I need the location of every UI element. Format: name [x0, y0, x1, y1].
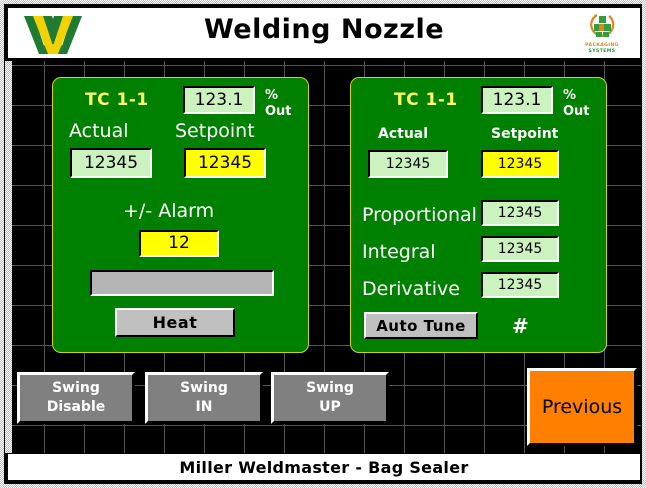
- heat-output-bargraph: [90, 270, 274, 296]
- application-window: Welding Nozzle PACKAGING SYSTEMS TC: [0, 0, 646, 488]
- swing-in-line-1: Swing: [180, 379, 228, 398]
- packaging-systems-logo-icon: PACKAGING SYSTEMS: [574, 10, 630, 58]
- percent-out-value-left[interactable]: 123.1: [183, 86, 255, 114]
- hash-symbol: #: [512, 314, 529, 338]
- integral-label: Integral: [362, 241, 436, 263]
- panel-left-title: TC 1-1: [85, 90, 149, 110]
- swing-disable-button[interactable]: Swing Disable: [17, 372, 135, 424]
- status-bar: Miller Weldmaster - Bag Sealer: [7, 453, 641, 481]
- derivative-label: Derivative: [362, 278, 460, 300]
- alarm-label-left: +/- Alarm: [123, 200, 214, 222]
- hmi-screen: Welding Nozzle PACKAGING SYSTEMS TC: [4, 4, 642, 484]
- previous-button[interactable]: Previous: [527, 368, 637, 446]
- swing-disable-line-1: Swing: [52, 379, 100, 398]
- actual-label-left: Actual: [69, 120, 129, 142]
- alarm-value-left[interactable]: 12: [139, 230, 219, 257]
- swing-up-line-1: Swing: [306, 379, 354, 398]
- percent-out-value-right[interactable]: 123.1: [481, 86, 553, 114]
- setpoint-value-left[interactable]: 12345: [184, 148, 266, 178]
- out-label-right: Out: [563, 104, 590, 119]
- swing-up-line-2: UP: [319, 398, 341, 417]
- setpoint-label-left: Setpoint: [175, 120, 255, 142]
- out-label-left: Out: [265, 104, 292, 119]
- page-title: Welding Nozzle: [8, 14, 640, 45]
- heat-button[interactable]: Heat: [115, 308, 235, 337]
- logo-line-2: SYSTEMS: [574, 49, 630, 55]
- tc-control-panel-right: TC 1-1 123.1 % Out Actual Setpoint 12345…: [350, 77, 607, 353]
- swing-up-button[interactable]: Swing UP: [271, 372, 389, 424]
- actual-value-left: 12345: [70, 148, 152, 178]
- panel-right-title: TC 1-1: [394, 90, 458, 110]
- percent-symbol-right: %: [563, 88, 576, 103]
- setpoint-label-right: Setpoint: [491, 126, 558, 142]
- percent-symbol-left: %: [265, 88, 278, 103]
- actual-label-right: Actual: [378, 126, 428, 142]
- previous-button-label: Previous: [542, 398, 622, 417]
- integral-value[interactable]: 12345: [481, 236, 559, 262]
- proportional-value[interactable]: 12345: [481, 200, 559, 226]
- setpoint-value-right[interactable]: 12345: [481, 150, 559, 178]
- status-bar-text: Miller Weldmaster - Bag Sealer: [179, 458, 468, 477]
- actual-value-right: 12345: [368, 150, 448, 178]
- tc-control-panel-left: TC 1-1 123.1 % Out Actual Setpoint 12345…: [52, 77, 309, 353]
- derivative-value[interactable]: 12345: [481, 272, 559, 298]
- title-bar: Welding Nozzle PACKAGING SYSTEMS: [7, 7, 641, 59]
- auto-tune-button[interactable]: Auto Tune: [364, 312, 478, 339]
- left-edge-strip: [5, 61, 12, 453]
- swing-in-line-2: IN: [196, 398, 213, 417]
- swing-disable-line-2: Disable: [47, 398, 106, 417]
- proportional-label: Proportional: [362, 204, 477, 226]
- swing-in-button[interactable]: Swing IN: [145, 372, 263, 424]
